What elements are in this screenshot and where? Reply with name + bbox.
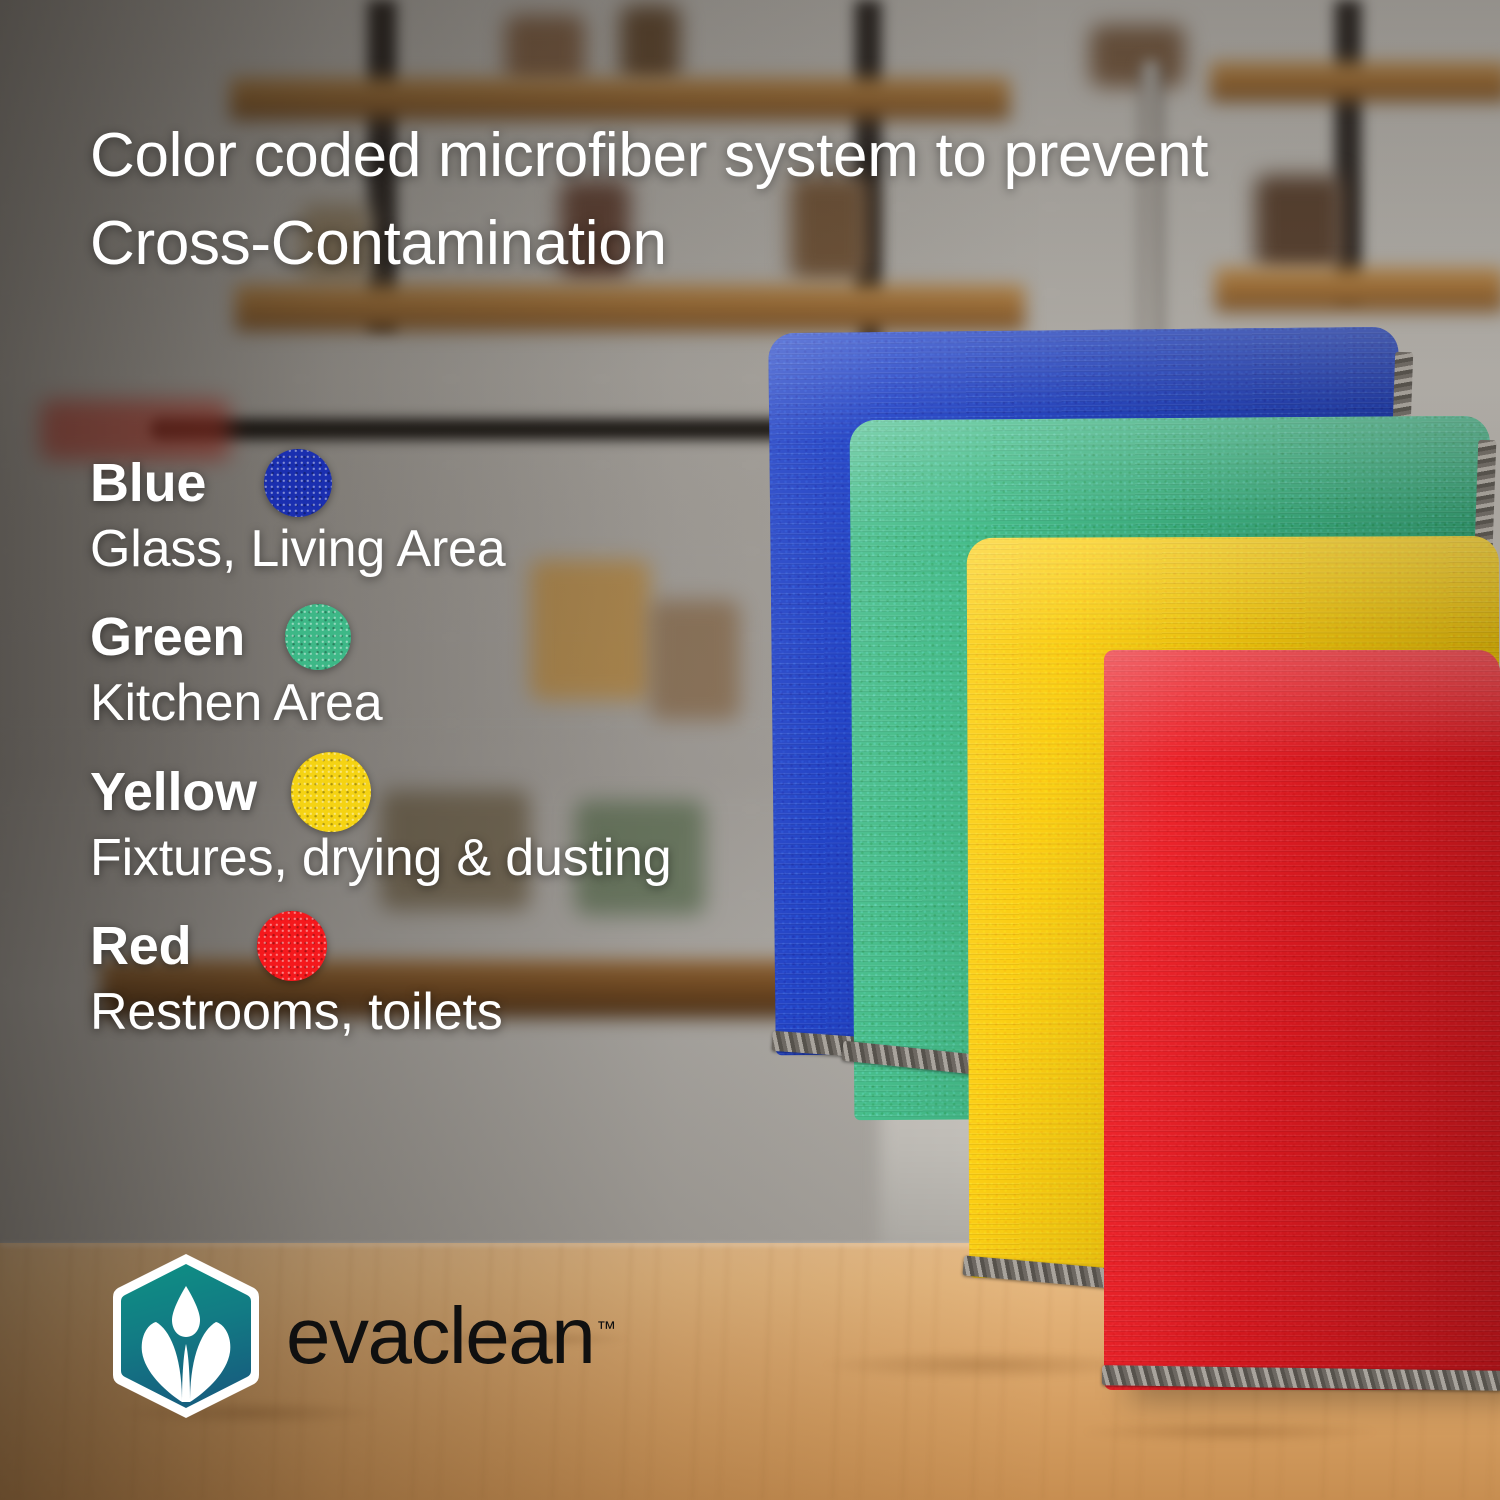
legend-color-name: Green xyxy=(90,610,245,664)
red-swatch-dot xyxy=(257,911,327,981)
yellow-swatch-dot xyxy=(291,752,371,832)
trademark-symbol: ™ xyxy=(596,1318,616,1340)
green-swatch-dot xyxy=(285,604,351,670)
legend-color-description: Kitchen Area xyxy=(90,672,850,734)
brand-logo: evaclean™ xyxy=(112,1252,616,1420)
legend-color-description: Fixtures, drying & dusting xyxy=(90,827,850,889)
legend-head-green: Green xyxy=(90,606,850,668)
color-code-legend: Blue Glass, Living Area Green Kitchen Ar… xyxy=(90,452,850,1070)
page-title: Color coded microfiber system to prevent… xyxy=(90,112,1430,288)
brand-name: evaclean xyxy=(286,1291,594,1380)
legend-color-description: Restrooms, toilets xyxy=(90,981,850,1043)
legend-color-description: Glass, Living Area xyxy=(90,518,850,580)
legend-item-red: Red Restrooms, toilets xyxy=(90,915,850,1043)
legend-color-name: Red xyxy=(90,919,191,973)
legend-color-name: Blue xyxy=(90,456,206,510)
legend-head-red: Red xyxy=(90,915,850,977)
headline-line-2: Cross-Contamination xyxy=(90,200,1430,288)
evaclean-logo-icon xyxy=(112,1252,260,1420)
legend-head-yellow: Yellow xyxy=(90,761,850,823)
blue-swatch-dot xyxy=(264,449,332,517)
legend-item-blue: Blue Glass, Living Area xyxy=(90,452,850,580)
legend-head-blue: Blue xyxy=(90,452,850,514)
headline-line-1: Color coded microfiber system to prevent xyxy=(90,112,1430,200)
legend-item-green: Green Kitchen Area xyxy=(90,606,850,734)
product-infographic: Color coded microfiber system to prevent… xyxy=(0,0,1500,1500)
brand-wordmark: evaclean™ xyxy=(286,1296,616,1376)
legend-item-yellow: Yellow Fixtures, drying & dusting xyxy=(90,761,850,889)
overlay-content: Color coded microfiber system to prevent… xyxy=(0,0,1500,1500)
legend-color-name: Yellow xyxy=(90,765,257,819)
